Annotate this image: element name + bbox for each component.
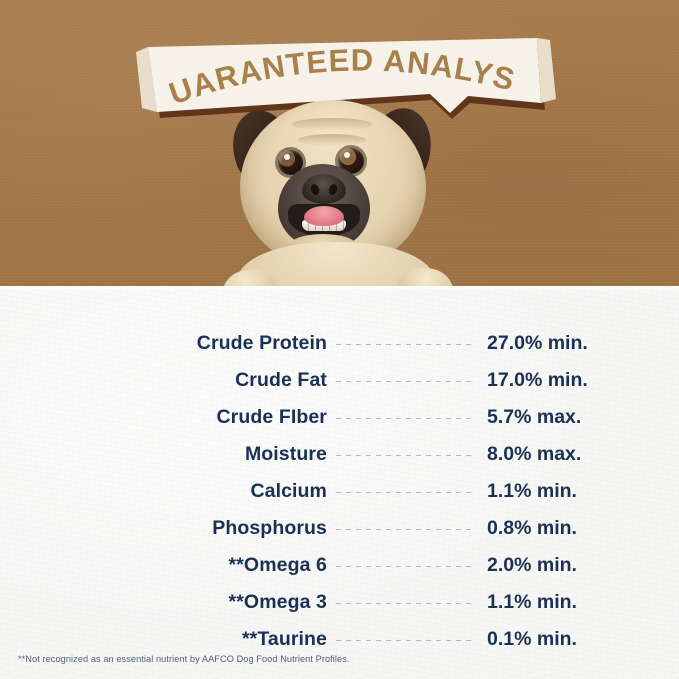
dotted-leader <box>336 455 473 456</box>
dog-left-eye-glint <box>284 154 290 160</box>
nutrient-value: 0.1% min. <box>481 628 679 651</box>
pug-dog-image <box>216 92 466 298</box>
analysis-row: Crude Protein27.0% min. <box>0 325 679 362</box>
nutrient-value: 27.0% min. <box>481 332 679 355</box>
guaranteed-analysis-table: Crude Protein27.0% min.Crude Fat17.0% mi… <box>0 325 679 658</box>
nutrient-label: Phosphorus <box>0 517 336 540</box>
nutrient-value: 1.1% min. <box>481 480 679 503</box>
analysis-row: **Omega 62.0% min. <box>0 547 679 584</box>
nutrient-value: 8.0% max. <box>481 443 679 466</box>
dotted-leader <box>336 603 473 604</box>
dog-nose <box>302 174 346 204</box>
nutrient-label: **Omega 6 <box>0 554 336 577</box>
nutrient-label: Crude FIber <box>0 406 336 429</box>
nutrient-value: 5.7% max. <box>481 406 679 429</box>
analysis-row: Calcium1.1% min. <box>0 473 679 510</box>
dotted-leader <box>336 640 473 641</box>
nutrient-label: **Omega 3 <box>0 591 336 614</box>
nutrient-label: Crude Fat <box>0 369 336 392</box>
nutrient-label: Calcium <box>0 480 336 503</box>
dog-tongue <box>304 206 344 226</box>
paper-top-edge <box>0 286 679 291</box>
nutrient-label: **Taurine <box>0 628 336 651</box>
nutrient-label: Moisture <box>0 443 336 466</box>
banner-tail-right <box>537 38 556 103</box>
dog-forehead-fold <box>292 118 372 131</box>
nutrient-value: 2.0% min. <box>481 554 679 577</box>
nutrient-label: Crude Protein <box>0 332 336 355</box>
analysis-row: **Omega 31.1% min. <box>0 584 679 621</box>
analysis-row: **Taurine0.1% min. <box>0 621 679 658</box>
banner-tail-left <box>136 47 157 112</box>
guaranteed-analysis-panel: GUARANTEED ANALYSIS Crude <box>0 0 679 679</box>
dotted-leader <box>336 529 473 530</box>
analysis-row: Crude Fat17.0% min. <box>0 362 679 399</box>
analysis-row: Moisture8.0% max. <box>0 436 679 473</box>
analysis-row: Crude FIber5.7% max. <box>0 399 679 436</box>
nutrient-value: 17.0% min. <box>481 369 679 392</box>
dotted-leader <box>336 566 473 567</box>
nutrient-value: 1.1% min. <box>481 591 679 614</box>
dotted-leader <box>336 344 473 345</box>
footnote-text: **Not recognized as an essential nutrien… <box>18 654 350 664</box>
nutrient-value: 0.8% min. <box>481 517 679 540</box>
dotted-leader <box>336 418 473 419</box>
dog-right-eye-glint <box>344 152 350 158</box>
dotted-leader <box>336 492 473 493</box>
dog-forehead-fold <box>298 134 366 146</box>
dotted-leader <box>336 381 473 382</box>
analysis-row: Phosphorus0.8% min. <box>0 510 679 547</box>
